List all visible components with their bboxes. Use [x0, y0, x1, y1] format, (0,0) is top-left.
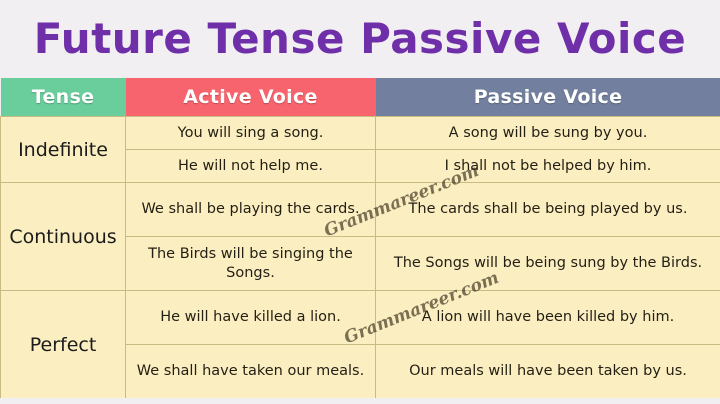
- tense-table: Tense Active Voice Passive Voice Indefin…: [0, 78, 720, 399]
- active-voice-cell: You will sing a song.: [126, 117, 376, 150]
- passive-voice-cell: A song will be sung by you.: [376, 117, 720, 150]
- column-header-active-voice: Active Voice: [126, 78, 376, 117]
- tense-label-continuous: Continuous: [1, 183, 126, 291]
- infographic-page: Future Tense Passive Voice Tense Active …: [0, 0, 720, 404]
- page-title: Future Tense Passive Voice: [34, 18, 687, 60]
- active-voice-cell: We shall have taken our meals.: [126, 345, 376, 399]
- passive-voice-cell: I shall not be helped by him.: [376, 150, 720, 183]
- table-row: Continuous We shall be playing the cards…: [1, 183, 720, 237]
- active-voice-cell: He will have killed a lion.: [126, 291, 376, 345]
- tense-label-perfect: Perfect: [1, 291, 126, 399]
- passive-voice-cell: A lion will have been killed by him.: [376, 291, 720, 345]
- passive-voice-cell: Our meals will have been taken by us.: [376, 345, 720, 399]
- active-voice-cell: He will not help me.: [126, 150, 376, 183]
- title-bar: Future Tense Passive Voice: [0, 0, 720, 78]
- table-row: Indefinite You will sing a song. A song …: [1, 117, 720, 150]
- column-header-tense: Tense: [1, 78, 126, 117]
- passive-voice-cell: The Songs will be being sung by the Bird…: [376, 237, 720, 291]
- column-header-passive-voice: Passive Voice: [376, 78, 720, 117]
- passive-voice-cell: The cards shall be being played by us.: [376, 183, 720, 237]
- active-voice-cell: The Birds will be singing the Songs.: [126, 237, 376, 291]
- bottom-edge: [0, 398, 720, 404]
- active-voice-cell: We shall be playing the cards.: [126, 183, 376, 237]
- table-row: Perfect He will have killed a lion. A li…: [1, 291, 720, 345]
- tense-label-indefinite: Indefinite: [1, 117, 126, 183]
- table-header-row: Tense Active Voice Passive Voice: [1, 78, 720, 117]
